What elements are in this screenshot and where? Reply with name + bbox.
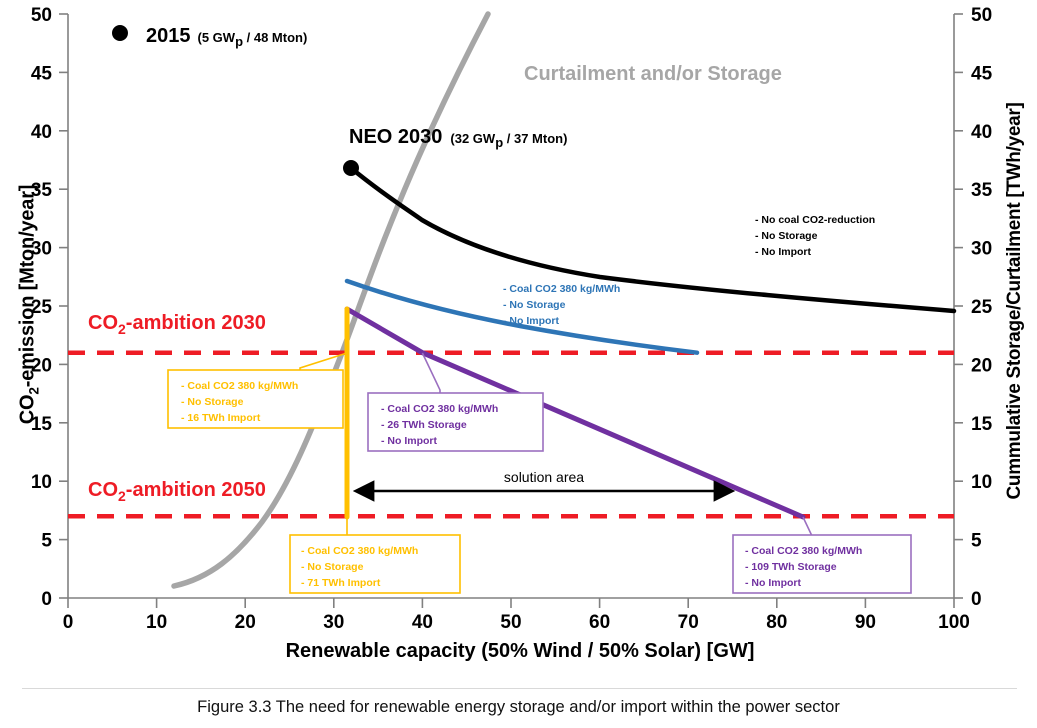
annotation-black-line-2: - No Import xyxy=(755,246,811,258)
y-tick-right-25: 25 xyxy=(971,297,993,318)
legend-2015-dot xyxy=(112,25,128,41)
x-tick-90: 90 xyxy=(855,612,876,633)
figure-container: 50 45 40 35 30 25 20 15 10 5 0 xyxy=(0,0,1037,728)
x-tick-30: 30 xyxy=(323,612,344,633)
ambition-2030-label: CO2-ambition 2030 xyxy=(88,312,266,337)
caption-divider xyxy=(22,688,1017,689)
y-tick-right-50: 50 xyxy=(971,5,992,26)
x-tick-0: 0 xyxy=(63,612,74,633)
y-axis-left-title-post: -emission [Mton/year] xyxy=(17,185,39,388)
annotation-blue-line-0: - Coal CO2 380 kg/MWh xyxy=(503,283,620,295)
y-axis-left-title: CO2-emission [Mton/year] xyxy=(17,90,42,520)
chart-svg: 50 45 40 35 30 25 20 15 10 5 0 xyxy=(0,0,1037,672)
legend-2015-label: 2015(5 GWp / 48 Mton) xyxy=(146,25,307,49)
annotation-purple-lower-line-1: - 109 TWh Storage xyxy=(745,561,837,573)
series-neo2030-marker xyxy=(343,160,359,176)
annotation-blue-line-2: - No Import xyxy=(503,315,559,327)
annotation-orange-upper-line-2: - 16 TWh Import xyxy=(181,412,261,424)
annotation-blue: - Coal CO2 380 kg/MWh - No Storage - No … xyxy=(503,283,620,327)
annotation-black: - No coal CO2-reduction - No Storage - N… xyxy=(755,214,875,258)
y-tick-left-5: 5 xyxy=(41,531,52,552)
annotation-orange-upper-line-1: - No Storage xyxy=(181,396,244,408)
plot-area: 50 45 40 35 30 25 20 15 10 5 0 xyxy=(0,0,1037,672)
x-tick-100: 100 xyxy=(938,612,970,633)
x-axis-title: Renewable capacity (50% Wind / 50% Solar… xyxy=(120,640,920,663)
annotation-orange-lower-line-0: - Coal CO2 380 kg/MWh xyxy=(301,545,418,557)
y-axis-right: 50 45 40 35 30 25 20 15 10 5 0 xyxy=(954,5,993,610)
y-axis-left-title-pre: CO xyxy=(17,395,39,425)
annotation-purple-upper-line-2: - No Import xyxy=(381,435,437,447)
leader-purple-lower xyxy=(803,517,812,536)
y-tick-right-40: 40 xyxy=(971,122,992,143)
y-axis-right-title: Cummulative Storage/Curtailment [TWh/yea… xyxy=(1004,81,1026,521)
y-tick-right-30: 30 xyxy=(971,239,992,260)
y-tick-right-35: 35 xyxy=(971,180,993,201)
y-axis-left-title-sub: 2 xyxy=(27,387,42,394)
series-neo2030-line xyxy=(351,168,954,311)
y-tick-left-0: 0 xyxy=(41,589,52,610)
x-tick-50: 50 xyxy=(500,612,521,633)
y-tick-left-45: 45 xyxy=(31,63,53,84)
y-tick-right-45: 45 xyxy=(971,63,993,84)
x-tick-80: 80 xyxy=(766,612,787,633)
annotation-orange-lower-line-1: - No Storage xyxy=(301,561,364,573)
x-tick-20: 20 xyxy=(235,612,256,633)
y-tick-right-0: 0 xyxy=(971,589,982,610)
solution-area-annotation: solution area xyxy=(372,469,716,491)
y-tick-left-50: 50 xyxy=(31,5,52,26)
figure-caption: Figure 3.3 The need for renewable energy… xyxy=(0,698,1037,717)
solution-area-label: solution area xyxy=(504,469,584,485)
annotation-purple-upper-line-0: - Coal CO2 380 kg/MWh xyxy=(381,403,498,415)
annotation-purple-upper-line-1: - 26 TWh Storage xyxy=(381,419,467,431)
annotation-purple-lower-line-0: - Coal CO2 380 kg/MWh xyxy=(745,545,862,557)
annotation-orange-lower-line-2: - 71 TWh Import xyxy=(301,577,381,589)
annotation-purple-lower-line-2: - No Import xyxy=(745,577,801,589)
annotation-blue-line-1: - No Storage xyxy=(503,299,566,311)
annotation-black-line-1: - No Storage xyxy=(755,230,818,242)
x-tick-60: 60 xyxy=(589,612,610,633)
x-tick-10: 10 xyxy=(146,612,167,633)
x-axis: 0 10 20 30 40 50 60 70 80 90 100 xyxy=(63,598,970,633)
y-tick-right-20: 20 xyxy=(971,355,992,376)
y-tick-right-10: 10 xyxy=(971,472,992,493)
curtailment-label: Curtailment and/or Storage xyxy=(524,63,782,85)
neo2030-label: NEO 2030(32 GWp / 37 Mton) xyxy=(349,126,567,150)
x-tick-40: 40 xyxy=(412,612,433,633)
annotation-black-line-0: - No coal CO2-reduction xyxy=(755,214,875,226)
annotation-orange-upper-line-0: - Coal CO2 380 kg/MWh xyxy=(181,380,298,392)
y-tick-right-5: 5 xyxy=(971,531,982,552)
ambition-2050-label: CO2-ambition 2050 xyxy=(88,479,266,504)
x-tick-70: 70 xyxy=(678,612,699,633)
y-tick-right-15: 15 xyxy=(971,414,993,435)
